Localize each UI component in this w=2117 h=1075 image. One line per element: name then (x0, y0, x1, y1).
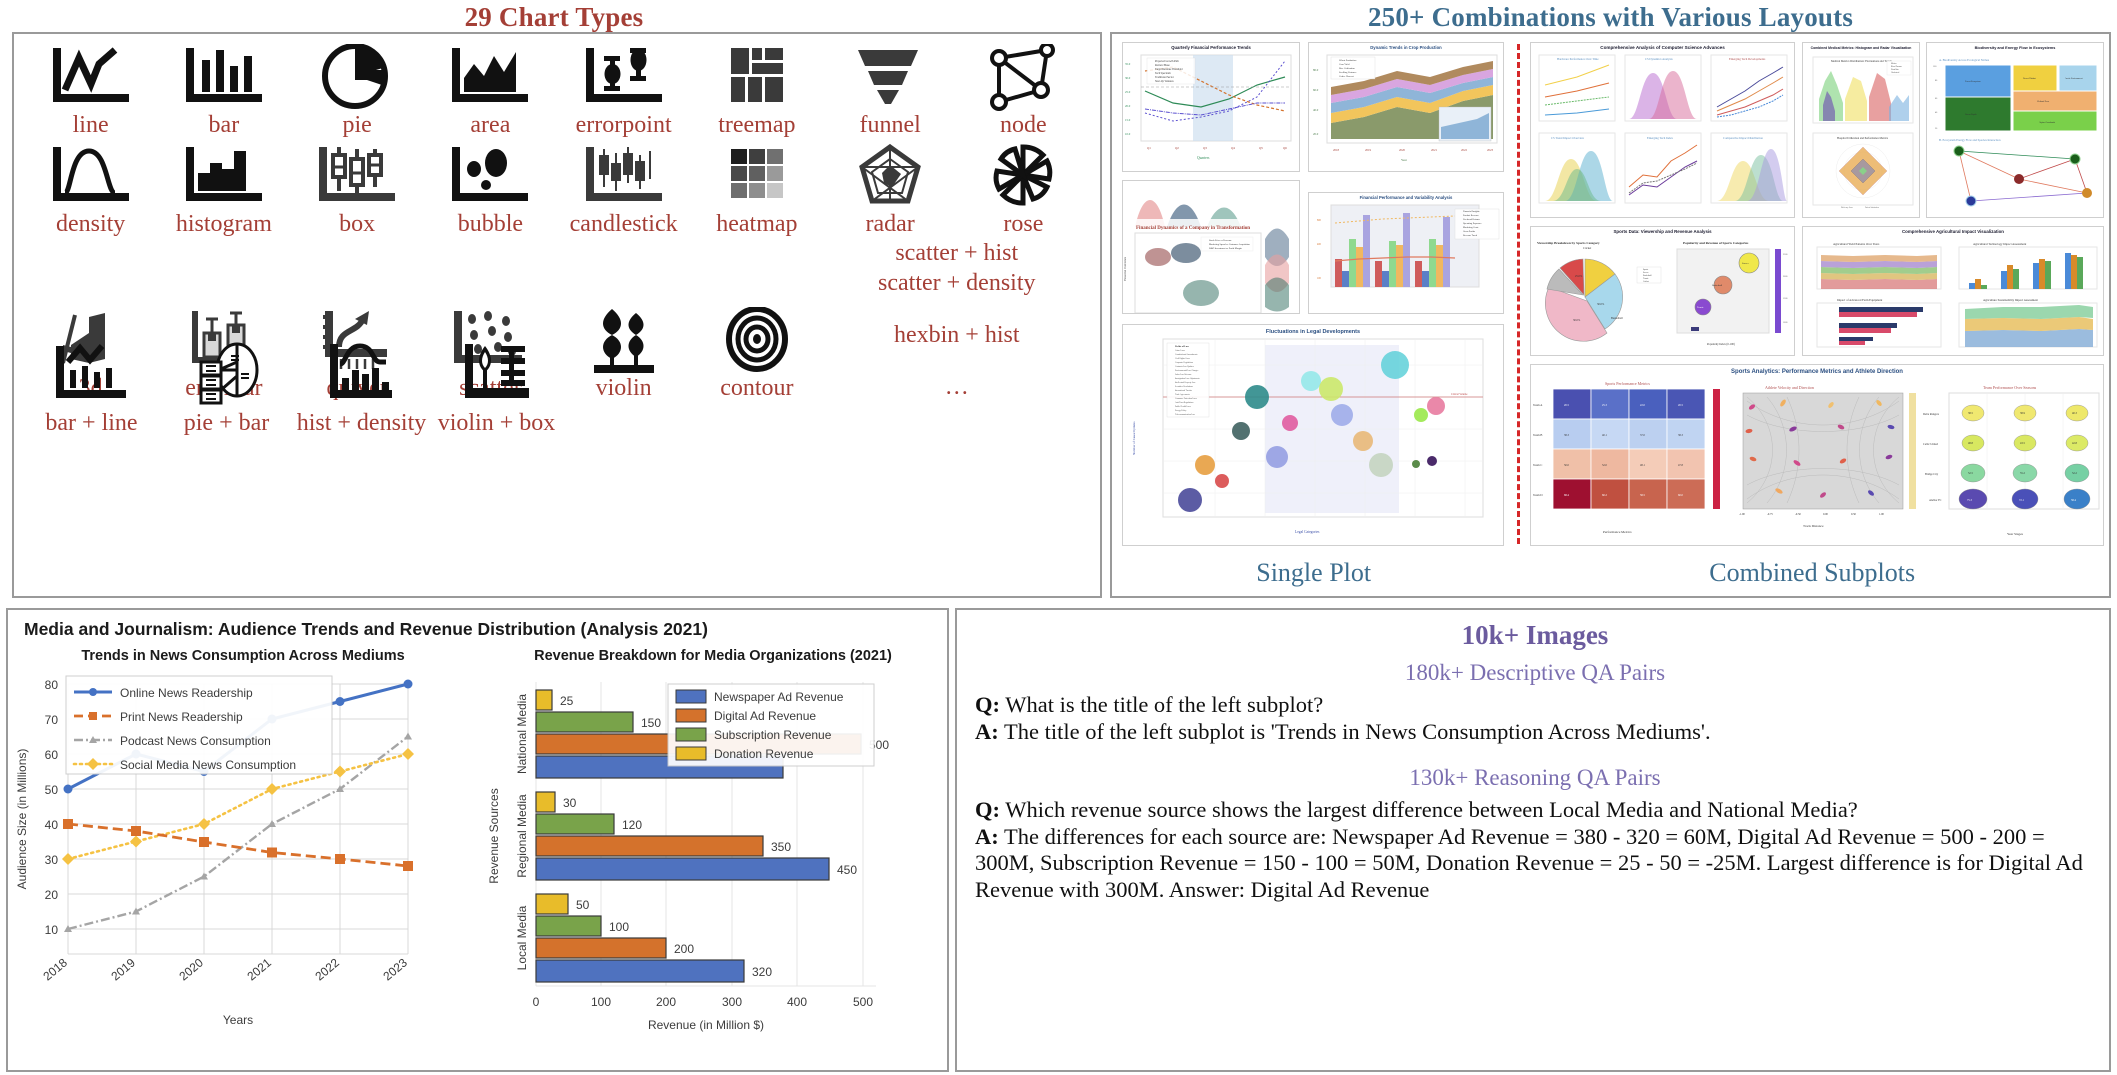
svg-text:60.2: 60.2 (1602, 494, 1607, 497)
thumbnail-combined-subplot[interactable]: Comprehensive Agricultural Impact Visual… (1802, 226, 2104, 356)
reasoning-answer: A: The differences for each source are: … (975, 824, 2095, 904)
svg-text:Metrics: Metrics (1891, 63, 1897, 65)
heatmap-chart-icon (711, 139, 803, 211)
svg-text:Intellectual Property Law: Intellectual Property Law (1175, 382, 1196, 384)
bubble-chart-icon (444, 139, 536, 211)
bar-chart-ylabel: Revenue Sources (487, 788, 501, 883)
chart-type-label: box (339, 211, 375, 238)
answer-tag: A: (975, 824, 999, 849)
chart-type-scatter-hist[interactable]: scatter + hist (895, 238, 1018, 268)
svg-text:Telecommunication Law: Telecommunication Law (1175, 414, 1195, 416)
chart-types-panel: line bar (12, 32, 1102, 598)
svg-text:National Media: National Media (515, 694, 529, 774)
chart-type-bar-line[interactable]: bar + line (24, 338, 159, 437)
svg-text:50.0: 50.0 (1564, 464, 1569, 467)
svg-text:Securities Resolutions: Securities Resolutions (1175, 386, 1193, 388)
chart-type-label: pie + bar (184, 410, 270, 437)
svg-text:80.0: 80.0 (1313, 68, 1319, 72)
svg-text:Basketball: Basketball (1611, 317, 1623, 320)
svg-text:10.0: 10.0 (1125, 132, 1131, 136)
question-text: What is the title of the left subplot? (1005, 692, 1323, 717)
svg-text:400: 400 (787, 995, 807, 1009)
chart-type-label: errorpoint (576, 112, 672, 139)
svg-text:Wheat Production: Wheat Production (1339, 59, 1357, 62)
svg-text:Number of Cases/Updates: Number of Cases/Updates (1132, 421, 1136, 455)
chart-type-label: histogram (176, 211, 272, 238)
bar-line-chart-icon (46, 338, 138, 410)
svg-text:40.0: 40.0 (1313, 108, 1319, 112)
radar-chart-icon (844, 139, 936, 211)
area-chart-icon (444, 40, 536, 112)
svg-text:0.00: 0.00 (1823, 513, 1828, 516)
caption-single-plot: Single Plot (1112, 558, 1515, 588)
svg-text:43.5: 43.5 (2020, 442, 2025, 445)
svg-text:Year Stages: Year Stages (2007, 532, 2024, 536)
thumbnail-single-plot[interactable]: Financial Performance and Variability An… (1308, 192, 1504, 314)
chart-type-line[interactable]: line (24, 40, 157, 139)
question-tag: Q: (975, 692, 1000, 717)
svg-text:Public Health Laws: Public Health Laws (1175, 406, 1191, 408)
svg-text:450: 450 (837, 863, 857, 877)
svg-text:Performance Metrics: Performance Metrics (1603, 530, 1632, 534)
svg-text:2019: 2019 (1365, 148, 1372, 152)
svg-text:Cricket: Cricket (1583, 247, 1591, 250)
svg-text:58.4: 58.4 (2071, 499, 2076, 502)
qa-heading: 10k+ Images (975, 614, 2095, 650)
line-chart-xlabel: Years (223, 1013, 253, 1027)
chart-type-node[interactable]: node (957, 40, 1090, 139)
svg-text:International Treaties: International Treaties (1175, 390, 1192, 392)
svg-text:2020: 2020 (176, 955, 206, 983)
svg-text:Online News Readership: Online News Readership (120, 686, 253, 700)
node-chart-icon (977, 40, 1069, 112)
svg-text:Q4: Q4 (1231, 146, 1235, 150)
svg-text:30.0%: 30.0% (1597, 303, 1605, 306)
chart-type-label: area (470, 112, 510, 139)
svg-text:800: 800 (1317, 219, 1322, 222)
svg-text:Basketball: Basketball (1712, 284, 1722, 287)
svg-text:-1.00: -1.00 (1739, 513, 1745, 516)
density-chart-icon (45, 139, 137, 211)
thumbnail-single-plot[interactable]: Quarterly Financial Performance Trends 3… (1122, 42, 1300, 172)
svg-text:Q6: Q6 (1283, 146, 1287, 150)
svg-text:25.3: 25.3 (1602, 404, 1607, 407)
svg-text:2018: 2018 (1333, 148, 1340, 152)
svg-text:60: 60 (45, 748, 59, 762)
svg-text:Emerging Tech Developments: Emerging Tech Developments (1729, 57, 1766, 61)
combinations-section: 250+ Combinations with Various Layouts Q… (1110, 0, 2111, 600)
svg-text:60.0: 60.0 (1313, 88, 1319, 92)
combinations-captions: Single Plot Combined Subplots (1112, 554, 2109, 592)
svg-text:55.2: 55.2 (2020, 472, 2025, 475)
chart-type-candlestick[interactable]: candlestick (557, 139, 690, 238)
chart-type-label: bubble (458, 211, 523, 238)
svg-text:Q5: Q5 (1259, 146, 1263, 150)
svg-text:Q1: Q1 (1147, 146, 1151, 150)
svg-text:Subscription Revenue: Subscription Revenue (714, 728, 832, 742)
chart-type-bubble[interactable]: bubble (424, 139, 557, 238)
svg-text:100: 100 (1317, 277, 1322, 280)
svg-text:1500: 1500 (1783, 298, 1788, 300)
svg-text:35.0: 35.0 (1125, 62, 1131, 66)
thumbnail-combined-subplot[interactable]: Sports Data: Viewership and Revenue Anal… (1530, 226, 1795, 356)
svg-text:Fields of Law: Fields of Law (1175, 345, 1189, 348)
svg-text:15.0: 15.0 (1125, 118, 1131, 122)
svg-text:2021: 2021 (244, 955, 274, 983)
thumbnail-combined-subplot[interactable]: Biodiversity and Energy Flow in Ecosyste… (1926, 42, 2104, 218)
answer-text: The title of the left subplot is 'Trends… (1004, 719, 1711, 744)
svg-text:60: 60 (1935, 98, 1938, 100)
thumbnail-combined-subplot[interactable]: Comprehensive Analysis of Computer Scien… (1530, 42, 1795, 218)
svg-text:Marketing Spend vs Customer Ac: Marketing Spend vs Customer Acquisition (1209, 243, 1251, 246)
box-chart-icon (311, 139, 403, 211)
chart-type-funnel[interactable]: funnel (824, 40, 957, 139)
svg-text:Quarters: Quarters (1197, 156, 1210, 160)
chart-type-density[interactable]: density (24, 139, 157, 238)
chart-type-box[interactable]: box (291, 139, 424, 238)
thumbnail-title: Sports Analytics: Performance Metrics an… (1531, 365, 2103, 375)
combinations-heading: 250+ Combinations with Various Layouts (1110, 0, 2111, 32)
chart-type-treemap[interactable]: treemap (690, 40, 823, 139)
svg-text:70: 70 (45, 713, 59, 727)
candlestick-chart-icon (578, 139, 670, 211)
svg-text:Seedling Ventures: Seedling Ventures (1339, 71, 1356, 74)
chart-type-label: treemap (718, 112, 795, 139)
thumbnail-title: Quarterly Financial Performance Trends (1123, 43, 1299, 51)
reasoning-qa-heading: 130k+ Reasoning QA Pairs (975, 745, 2095, 793)
svg-text:Popularity and Revenue of Spor: Popularity and Revenue of Sports Categor… (1683, 241, 1749, 245)
svg-text:Desert Habitat: Desert Habitat (2023, 78, 2036, 80)
svg-text:40.3: 40.3 (2072, 412, 2077, 415)
svg-text:20.0: 20.0 (1313, 132, 1319, 136)
svg-text:Start-Up Ventures: Start-Up Ventures (1155, 80, 1174, 83)
svg-text:Print News Readership: Print News Readership (120, 710, 243, 724)
bar-subplot: Revenue Breakdown for Media Organization… (478, 640, 948, 1067)
descriptive-question: Q: What is the title of the left subplot… (975, 692, 2095, 719)
svg-text:2019: 2019 (108, 955, 138, 983)
chart-types-section: 29 Chart Types line (6, 0, 1102, 600)
svg-text:Local Media: Local Media (515, 905, 529, 970)
answer-tag: A: (975, 719, 999, 744)
svg-text:52.2: 52.2 (2072, 472, 2077, 475)
chart-type-label: heatmap (716, 211, 797, 238)
svg-text:-0.75: -0.75 (1767, 513, 1773, 516)
svg-text:Financial Outcomes: Financial Outcomes (1123, 256, 1127, 281)
chart-type-area[interactable]: area (424, 40, 557, 139)
svg-text:0: 0 (533, 995, 540, 1009)
svg-text:Team C: Team C (1533, 463, 1542, 467)
svg-text:Emerging Tech Index: Emerging Tech Index (1647, 136, 1673, 140)
svg-text:Crime Laws: Crime Laws (1175, 350, 1185, 352)
qa-section: 10k+ Images 180k+ Descriptive QA Pairs Q… (955, 608, 2111, 1072)
svg-text:68.4: 68.4 (1564, 494, 1569, 497)
line-chart-icon (45, 40, 137, 112)
svg-text:38.3: 38.3 (1678, 434, 1683, 437)
chart-type-bar[interactable]: bar (157, 40, 290, 139)
line-chart-svg: 807060 504030 2010 (8, 664, 474, 1062)
svg-text:Team A: Team A (1533, 403, 1543, 407)
svg-text:Bridge City: Bridge City (1925, 473, 1939, 476)
chart-type-heatmap[interactable]: heatmap (690, 139, 823, 238)
line-subplot: Trends in News Consumption Across Medium… (8, 640, 478, 1067)
caption-combined-subplots: Combined Subplots (1515, 558, 2109, 588)
svg-text:Donation Revenue: Donation Revenue (714, 747, 814, 761)
svg-text:350: 350 (771, 840, 791, 854)
chart-type-histogram[interactable]: histogram (157, 139, 290, 238)
thumbnail-title: Dynamic Trends in Crop Production (1309, 43, 1503, 51)
svg-text:Alpine Grasslands: Alpine Grasslands (2039, 121, 2055, 124)
svg-text:30.0%: 30.0% (1573, 319, 1581, 322)
svg-text:B. Ecosystem Energy Flow and S: B. Ecosystem Energy Flow and Species Int… (1939, 138, 2001, 142)
svg-text:25.0%: 25.0% (1575, 275, 1583, 278)
svg-text:Soccer: Soccer (1643, 272, 1649, 274)
chart-type-label: line (73, 112, 109, 139)
svg-text:120: 120 (622, 818, 642, 832)
svg-text:CS Dynamics Analysis: CS Dynamics Analysis (1645, 57, 1674, 61)
svg-text:Track Distance: Track Distance (1803, 524, 1824, 528)
svg-text:Review Phase: Review Phase (1155, 64, 1170, 67)
line-chart-ylabel: Audience Size (in Millions) (15, 749, 29, 890)
svg-text:Tech Spectrum: Tech Spectrum (1155, 72, 1171, 75)
svg-text:Legal Categories: Legal Categories (1295, 530, 1320, 534)
chart-type-label: node (1000, 112, 1047, 139)
svg-text:Arctic Environment: Arctic Environment (2065, 77, 2083, 80)
svg-text:Immigration Law Adjustments: Immigration Law Adjustments (1175, 377, 1200, 380)
svg-text:200: 200 (674, 942, 694, 956)
svg-text:100: 100 (1933, 66, 1937, 68)
chart-types-row: bar + line (24, 338, 1090, 437)
question-text: Which revenue source shows the largest d… (1005, 797, 1858, 822)
svg-text:Ocean Depth: Ocean Depth (1965, 114, 1977, 116)
svg-text:Sports Performance Metrics: Sports Performance Metrics (1605, 381, 1650, 386)
panel-divider (1517, 44, 1520, 544)
svg-text:Heart Rate: Heart Rate (1891, 69, 1899, 71)
svg-text:Traditional Sector: Traditional Sector (1155, 76, 1174, 79)
hist-density-chart-icon (316, 338, 408, 410)
svg-text:60.0: 60.0 (1678, 494, 1683, 497)
svg-text:Revenue Trend: Revenue Trend (1463, 235, 1478, 237)
svg-text:2023: 2023 (1487, 148, 1494, 152)
svg-text:Tennis: Tennis (1643, 278, 1649, 280)
thumbnail-title: Fluctuations in Legal Developments (1123, 325, 1503, 335)
chart-type-scatter-density[interactable]: scatter + density (878, 268, 1036, 298)
svg-text:300: 300 (722, 995, 742, 1009)
chart-type-hist-density[interactable]: hist + density (294, 338, 429, 437)
svg-text:Hardware Performance Over Time: Hardware Performance Over Time (1557, 57, 1599, 61)
svg-text:Cricket: Cricket (1643, 281, 1649, 283)
svg-text:Agricultural Yield Patterns Ov: Agricultural Yield Patterns Over Years (1833, 242, 1880, 246)
reasoning-question: Q: Which revenue source shows the larges… (975, 797, 2095, 824)
chart-types-grid: line bar (24, 40, 1090, 592)
svg-text:Anchor FC: Anchor FC (1929, 499, 1942, 502)
svg-text:Athlete Velocity and Direction: Athlete Velocity and Direction (1765, 385, 1814, 390)
chart-type-label: pie (342, 112, 371, 139)
chart-type-label: bar (209, 112, 240, 139)
svg-text:Q3: Q3 (1203, 146, 1207, 150)
svg-text:2000: 2000 (1783, 276, 1788, 278)
svg-text:Marketing Costs: Marketing Costs (1463, 226, 1478, 229)
svg-text:80: 80 (45, 678, 59, 692)
chart-type-label: funnel (859, 112, 920, 139)
svg-text:320: 320 (752, 965, 772, 979)
chart-type-radar[interactable]: radar (824, 139, 957, 238)
svg-text:Team B: Team B (1533, 433, 1542, 437)
chart-type-label: density (56, 211, 125, 238)
svg-text:Rice Cultivation: Rice Cultivation (1339, 67, 1356, 70)
svg-text:Team Performance Over Seasons: Team Performance Over Seasons (1983, 385, 2037, 390)
errorpoint-chart-icon (578, 40, 670, 112)
svg-text:40.1: 40.1 (1602, 434, 1607, 437)
svg-text:2023: 2023 (380, 955, 410, 983)
svg-text:Basketball: Basketball (1643, 275, 1652, 277)
svg-text:2020: 2020 (1399, 148, 1406, 152)
svg-text:2022: 2022 (312, 955, 342, 983)
figure-section: Media and Journalism: Audience Trends an… (6, 608, 949, 1072)
svg-text:20: 20 (45, 888, 59, 902)
svg-text:Constitutional Amendments: Constitutional Amendments (1175, 353, 1198, 356)
svg-text:25: 25 (560, 694, 574, 708)
svg-text:30.0: 30.0 (1125, 76, 1131, 80)
svg-text:Newspaper Ad Revenue: Newspaper Ad Revenue (714, 690, 844, 704)
svg-text:47.8: 47.8 (1678, 464, 1683, 467)
thumbnail-combined-subplot[interactable]: Sports Analytics: Performance Metrics an… (1530, 364, 2104, 546)
svg-text:Projected Growth Path: Projected Growth Path (1155, 60, 1179, 63)
chart-type-label: hist + density (297, 410, 427, 437)
svg-text:Blood Pressure: Blood Pressure (1891, 66, 1902, 68)
svg-text:Soccer: Soccer (1742, 262, 1749, 265)
svg-text:Target Revenue Threshold: Target Revenue Threshold (1155, 68, 1183, 71)
svg-text:Sports: Sports (1643, 269, 1648, 271)
svg-text:48.1: 48.1 (1640, 464, 1645, 467)
chart-type-label: candlestick (570, 211, 678, 238)
question-tag: Q: (975, 797, 1000, 822)
thumbnail-single-plot[interactable]: Fluctuations in Legal Developments (1122, 324, 1504, 546)
svg-text:Labor Law Reforms: Labor Law Reforms (1175, 373, 1191, 376)
svg-text:Delta Rangers: Delta Rangers (1923, 413, 1939, 416)
svg-text:Coffee Harvest: Coffee Harvest (1339, 75, 1354, 78)
svg-text:Anti-Trust Regulations: Anti-Trust Regulations (1175, 401, 1194, 404)
funnel-chart-icon (844, 40, 936, 112)
svg-text:400: 400 (1317, 243, 1322, 246)
svg-text:100: 100 (591, 995, 611, 1009)
svg-text:1.00: 1.00 (1879, 513, 1884, 516)
svg-text:Corn Yield: Corn Yield (1339, 63, 1350, 66)
svg-text:Corporate Regulations: Corporate Regulations (1175, 361, 1193, 364)
svg-text:Financial Dynamics of a Compan: Financial Dynamics of a Company in Trans… (1136, 226, 1250, 231)
svg-text:30: 30 (45, 853, 59, 867)
thumbnail-single-plot[interactable]: Financial Dynamics of a Company in Trans… (1122, 180, 1300, 314)
svg-text:58.5: 58.5 (1640, 494, 1645, 497)
svg-text:52.0: 52.0 (1602, 464, 1607, 467)
chart-types-row: density histogram (24, 139, 1090, 238)
violin-box-chart-icon (451, 338, 543, 410)
svg-text:38.3: 38.3 (1564, 434, 1569, 437)
svg-text:2021: 2021 (1431, 148, 1438, 152)
descriptive-qa-heading: 180k+ Descriptive QA Pairs (975, 650, 2095, 688)
thumbnail-title: Comprehensive Analysis of Computer Scien… (1531, 43, 1794, 51)
svg-text:20.5: 20.5 (1678, 404, 1683, 407)
chart-type-rose[interactable]: rose (957, 139, 1090, 238)
svg-text:Social Media News Consumption: Social Media News Consumption (120, 758, 296, 772)
bar-chart-xlabel: Revenue (in Million $) (648, 1018, 764, 1032)
svg-text:Team D: Team D (1533, 493, 1543, 497)
svg-text:Wetland Zone: Wetland Zone (2037, 101, 2049, 103)
chart-types-row: line bar (24, 40, 1090, 139)
pie-chart-icon (311, 40, 403, 112)
svg-text:Hospital Utilization and Perfo: Hospital Utilization and Performance Met… (1837, 137, 1888, 140)
thumbnail-single-plot[interactable]: Dynamic Trends in Crop Production Wheat … (1308, 42, 1504, 172)
svg-text:Financial Insights: Financial Insights (1463, 210, 1480, 213)
svg-text:37.0: 37.0 (1640, 434, 1645, 437)
poster-root: 29 Chart Types line (0, 0, 2117, 1075)
svg-text:25.0: 25.0 (1125, 90, 1131, 94)
svg-text:-0.50: -0.50 (1795, 513, 1801, 516)
svg-text:Product Revenue: Product Revenue (1463, 215, 1479, 217)
svg-text:2500: 2500 (1783, 254, 1788, 256)
chart-type-violin-box[interactable]: violin + box (429, 338, 564, 437)
svg-text:1000: 1000 (1783, 322, 1788, 324)
thumbnail-title: Comprehensive Agricultural Impact Visual… (1803, 227, 2103, 235)
answer-text: The differences for each source are: New… (975, 824, 2083, 902)
bar-chart-svg: 25 150 500 30 120 350 450 50 100 200 320 (478, 664, 944, 1062)
svg-text:Impact of Advanced Farm Equipm: Impact of Advanced Farm Equipment (1837, 298, 1882, 302)
svg-text:Critical Volume: Critical Volume (1451, 393, 1468, 396)
thumbnail-title: Combined Medical Metrics: Histogram and … (1803, 43, 1919, 51)
combinations-panel: Quarterly Financial Performance Trends 3… (1110, 32, 2111, 598)
svg-text:Cholesterol: Cholesterol (1891, 72, 1900, 74)
svg-text:20.5: 20.5 (1564, 404, 1569, 407)
chart-type-errorpoint[interactable]: errorpoint (557, 40, 690, 139)
svg-text:Civil Rights Cases: Civil Rights Cases (1175, 357, 1190, 360)
chart-type-label: violin + box (438, 410, 556, 437)
svg-text:2022: 2022 (1461, 148, 1468, 152)
svg-text:0.50: 0.50 (1851, 513, 1856, 516)
svg-text:Podcast News Consumption: Podcast News Consumption (120, 734, 271, 748)
svg-text:Patient Satisfaction: Patient Satisfaction (1865, 206, 1879, 209)
figure-suptitle: Media and Journalism: Audience Trends an… (8, 610, 947, 640)
line-subplot-title: Trends in News Consumption Across Medium… (8, 648, 478, 664)
histogram-chart-icon (178, 139, 270, 211)
svg-text:100: 100 (609, 920, 629, 934)
svg-text:20: 20 (1935, 128, 1938, 130)
svg-text:150: 150 (641, 716, 661, 730)
svg-text:52.5: 52.5 (1968, 472, 1973, 475)
svg-text:48.8: 48.8 (1968, 442, 1973, 445)
svg-text:72.1: 72.1 (2019, 499, 2024, 502)
svg-text:Operating Expenses: Operating Expenses (1463, 222, 1482, 225)
thumbnail-combined-subplot[interactable]: Combined Medical Metrics: Histogram and … (1802, 42, 1920, 218)
chart-type-label: radar (865, 211, 914, 238)
svg-text:2018: 2018 (40, 955, 70, 983)
pie-bar-chart-icon (181, 338, 273, 410)
svg-text:A. Biodiversity Across Ecologi: A. Biodiversity Across Ecological Niches (1939, 58, 1990, 62)
svg-text:Gross Profits: Gross Profits (1463, 230, 1475, 233)
descriptive-answer: A: The title of the left subplot is 'Tre… (975, 719, 2095, 746)
svg-text:30: 30 (563, 796, 577, 810)
svg-text:Consumer Protection Laws: Consumer Protection Laws (1175, 398, 1197, 400)
qa-panel: 10k+ Images 180k+ Descriptive QA Pairs Q… (955, 608, 2111, 1072)
chart-type-pie-bar[interactable]: pie + bar (159, 338, 294, 437)
svg-text:40: 40 (45, 818, 59, 832)
svg-text:Forest Ecosystem: Forest Ecosystem (1965, 81, 1981, 83)
svg-text:Medical Metrics Distribution:: Medical Metrics Distribution: Fluctuatio… (1831, 60, 1892, 63)
svg-text:50: 50 (45, 783, 59, 797)
figure-panel: Media and Journalism: Audience Trends an… (6, 608, 949, 1072)
thumbnail-title: Sports Data: Viewership and Revenue Anal… (1531, 227, 1794, 235)
svg-text:Comparative Impact Distributio: Comparative Impact Distribution (1723, 136, 1763, 140)
chart-type-pie[interactable]: pie (291, 40, 424, 139)
svg-text:CS Trend Impact Overview: CS Trend Impact Overview (1551, 136, 1585, 140)
